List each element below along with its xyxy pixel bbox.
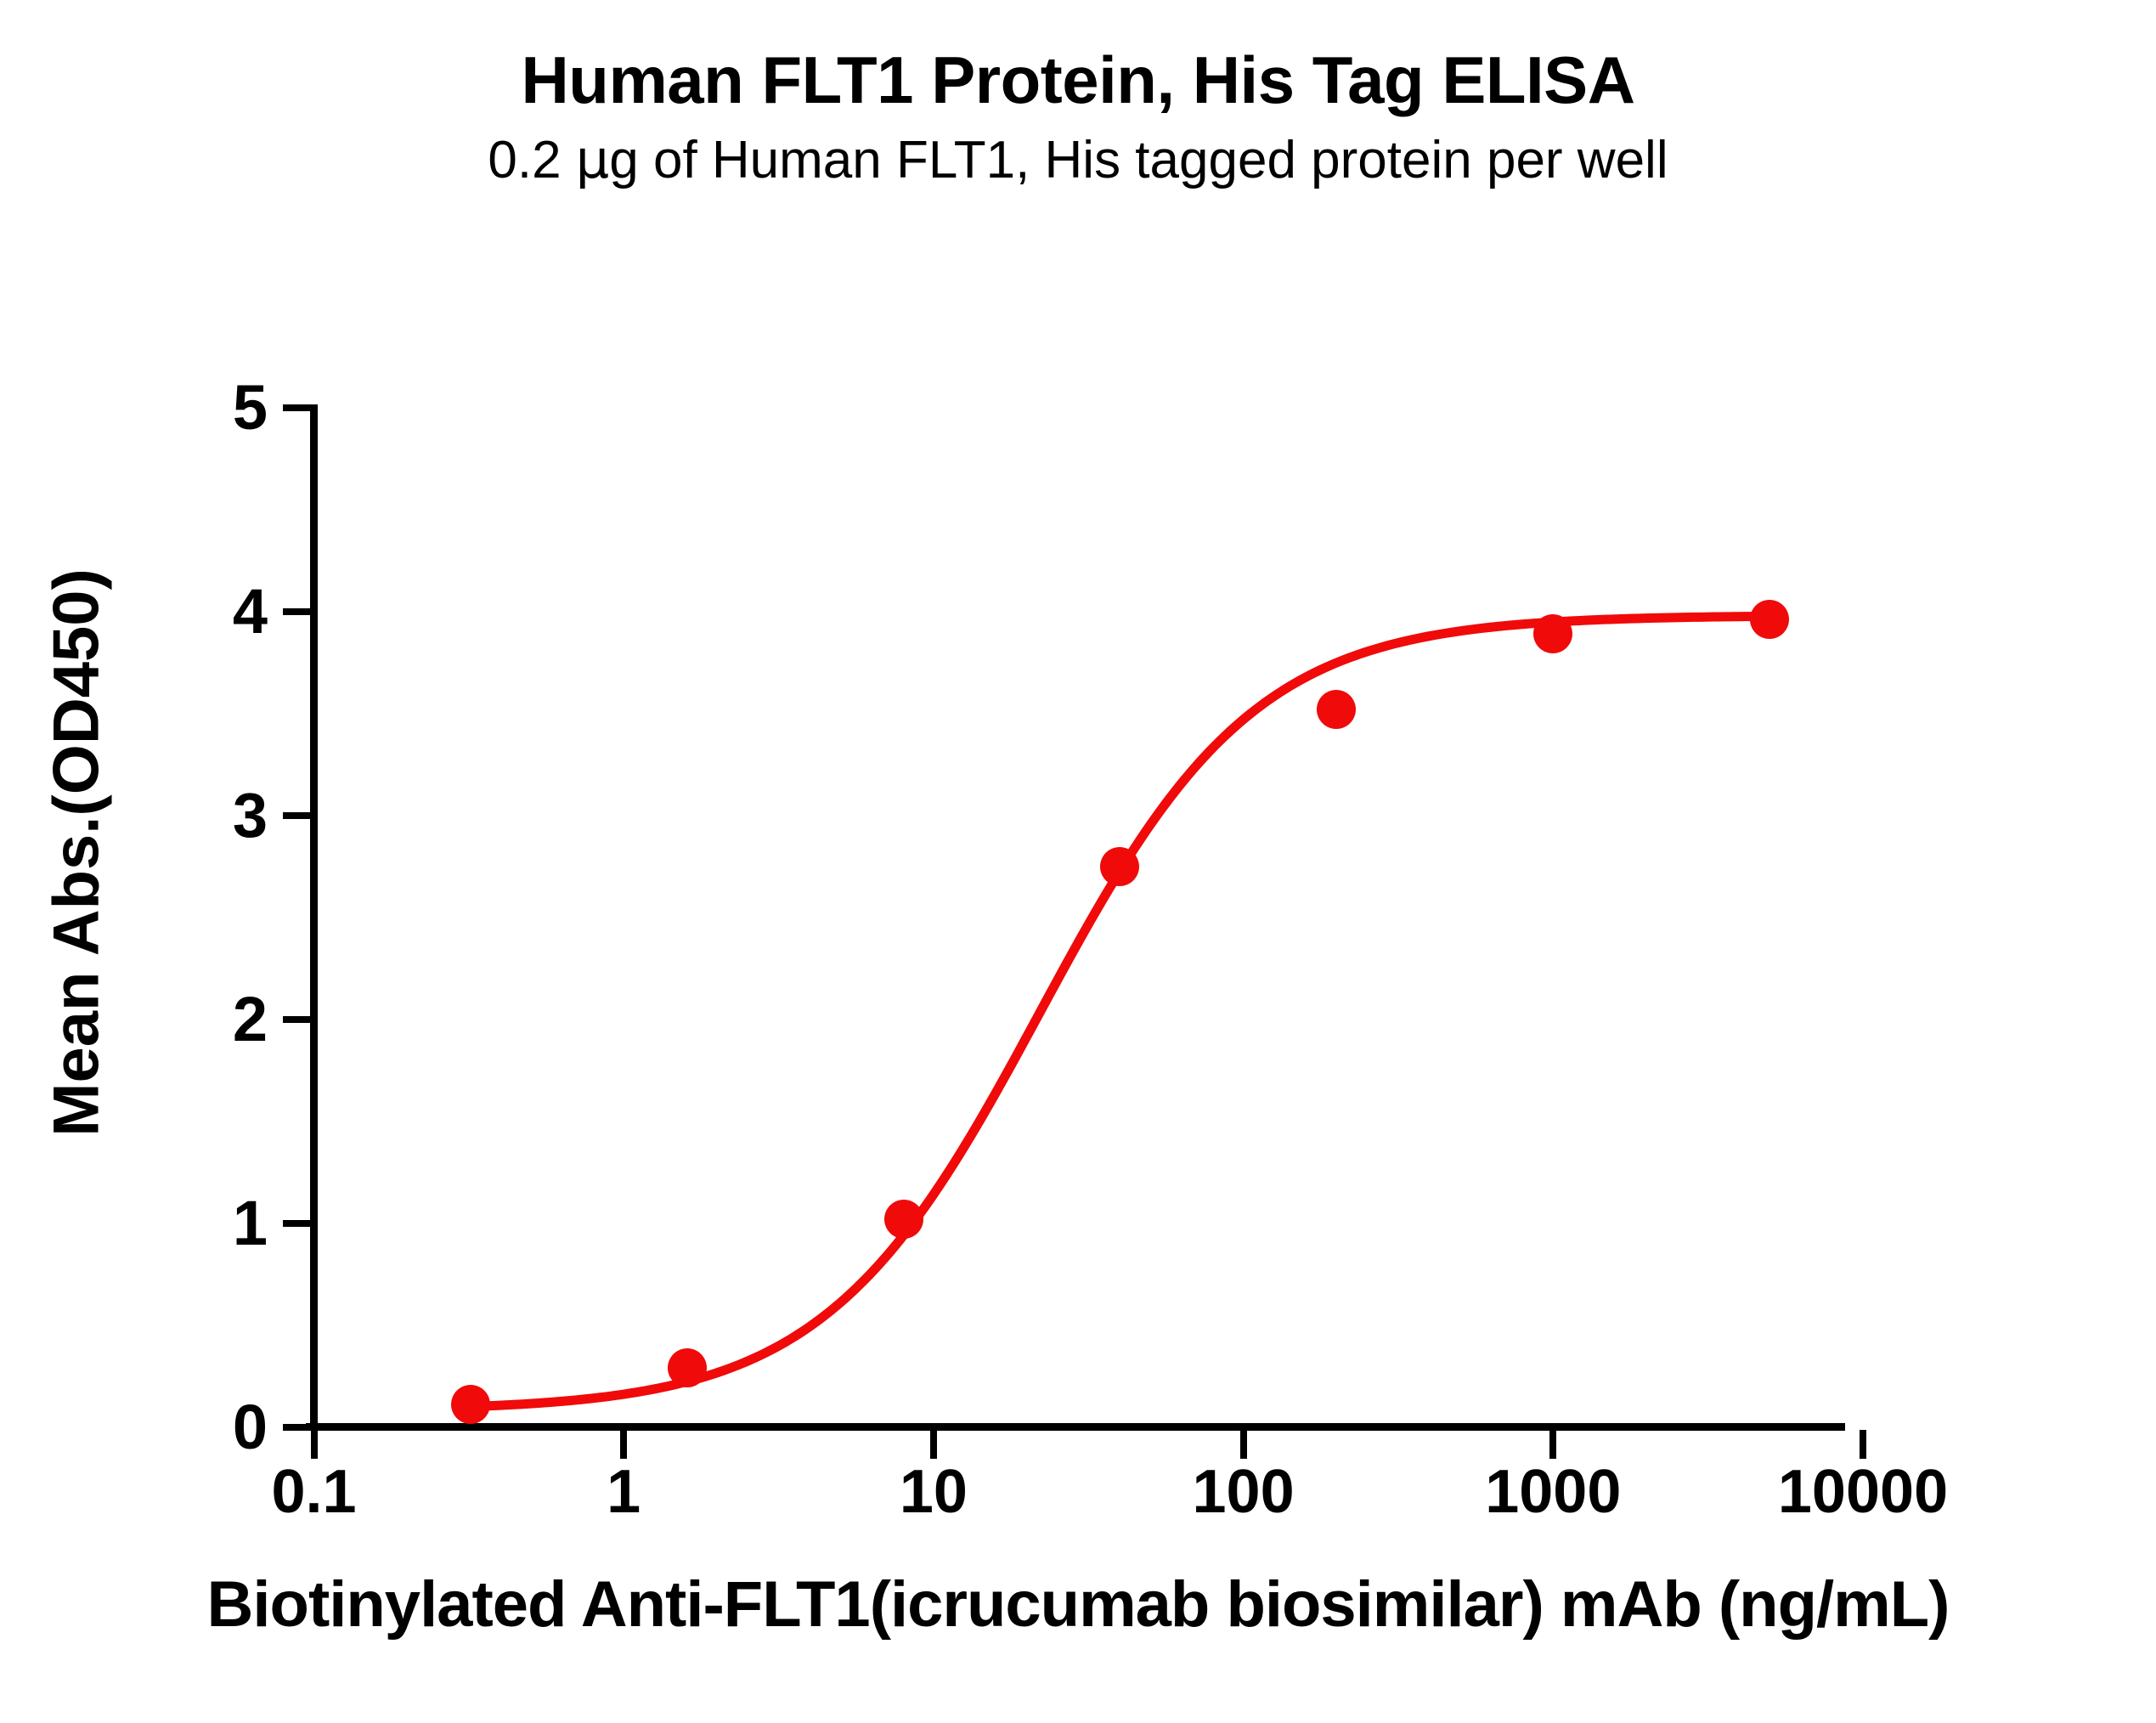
elisa-chart-figure: Human FLT1 Protein, His Tag ELISA 0.2 μg… — [0, 0, 2156, 1723]
fit-curve — [0, 0, 2156, 1723]
